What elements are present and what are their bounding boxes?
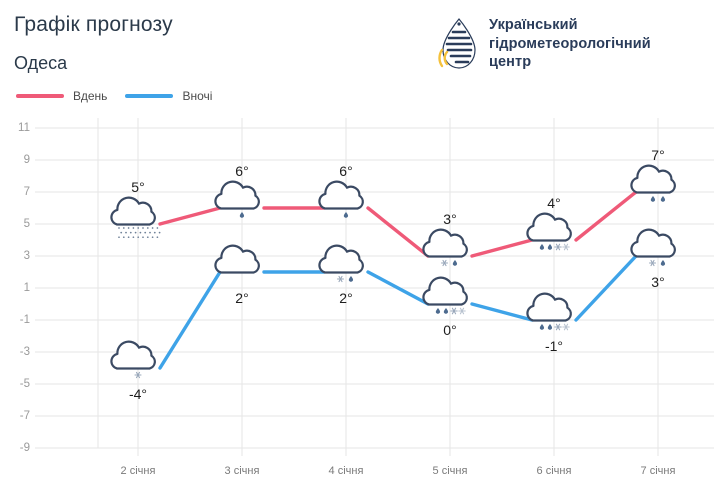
precipitation-icon [240, 212, 244, 218]
x-axis-tick: 4 січня [329, 465, 364, 477]
temperature-label: -4° [129, 386, 147, 402]
snowflake-icon [563, 244, 569, 250]
raindrop-icon [661, 196, 665, 202]
cloud-icon [527, 214, 570, 241]
raindrop-icon [436, 308, 440, 314]
series-segment [160, 208, 220, 224]
weather-point [111, 342, 154, 378]
series-segment [472, 304, 532, 320]
y-axis-tick: 11 [4, 122, 30, 134]
temperature-label: 6° [235, 163, 248, 179]
y-axis-tick: 5 [4, 218, 30, 230]
precipitation-icon [650, 260, 666, 266]
precipitation-icon [442, 260, 458, 266]
weather-point [215, 182, 258, 218]
series-segment [472, 240, 532, 256]
cloud-icon [527, 294, 570, 321]
weather-point [527, 214, 570, 250]
weather-point [111, 198, 160, 238]
snowflake-icon [563, 324, 569, 330]
y-axis-tick: -9 [4, 442, 30, 454]
snowflake-icon [650, 260, 656, 265]
precipitation-icon [540, 244, 569, 250]
cloud-icon [423, 278, 466, 305]
y-axis-tick: 9 [4, 154, 30, 166]
temperature-label: 3° [443, 211, 456, 227]
raindrop-icon [548, 324, 552, 330]
weather-point [319, 182, 362, 218]
weather-point [631, 166, 674, 202]
cloud-icon [631, 166, 674, 193]
y-axis-tick: 1 [4, 282, 30, 294]
x-axis-tick: 3 січня [225, 465, 260, 477]
raindrop-icon [548, 244, 552, 250]
y-axis-tick: 7 [4, 186, 30, 198]
y-axis-tick: -5 [4, 378, 30, 390]
temperature-label: 6° [339, 163, 352, 179]
weather-point [319, 246, 362, 282]
cloud-icon [319, 182, 362, 209]
snowflake-icon [555, 324, 561, 330]
cloud-icon [215, 182, 258, 209]
cloud-icon [423, 230, 466, 257]
precipitation-icon [540, 324, 569, 330]
raindrop-icon [453, 260, 457, 266]
cloud-icon [111, 198, 154, 225]
y-axis-tick: -7 [4, 410, 30, 422]
snowflake-icon [555, 244, 561, 250]
cloud-icon [319, 246, 362, 273]
temperature-label: 2° [235, 290, 248, 306]
chart-plot-area: 1197531-1-3-5-7-92 січня3 січня4 січня5 … [0, 0, 714, 493]
precipitation-icon [436, 308, 465, 314]
temperature-label: -1° [545, 338, 563, 354]
temperature-label: 3° [651, 274, 664, 290]
raindrop-icon [444, 308, 448, 314]
cloud-icon [215, 246, 258, 273]
raindrop-icon [349, 276, 353, 282]
weather-point [527, 294, 570, 330]
x-axis-tick: 6 січня [537, 465, 572, 477]
temperature-label: 4° [547, 195, 560, 211]
y-axis-tick: 3 [4, 250, 30, 262]
series-segment [368, 208, 428, 256]
raindrop-icon [661, 260, 665, 266]
weather-point [423, 278, 466, 314]
raindrop-icon [240, 212, 244, 218]
x-axis-tick: 5 січня [433, 465, 468, 477]
snowflake-icon [338, 276, 344, 281]
precipitation-icon [344, 212, 348, 218]
weather-point [423, 230, 466, 266]
forecast-chart-page: Графік прогнозу Одеса Український гідром… [0, 0, 714, 493]
raindrop-icon [540, 244, 544, 250]
drizzle-icon [118, 227, 160, 238]
temperature-label: 5° [131, 179, 144, 195]
cloud-icon [111, 342, 154, 369]
temperature-label: 0° [443, 322, 456, 338]
weather-point [631, 230, 674, 266]
snowflake-icon [451, 308, 457, 314]
weather-point [215, 246, 258, 273]
x-axis-tick: 2 січня [121, 465, 156, 477]
snowflake-icon [459, 308, 465, 314]
series-segment [576, 192, 636, 240]
chart-svg [0, 0, 714, 493]
snowflake-icon [442, 260, 448, 265]
raindrop-icon [540, 324, 544, 330]
x-axis-tick: 7 січня [641, 465, 676, 477]
y-axis-tick: -3 [4, 346, 30, 358]
cloud-icon [631, 230, 674, 257]
raindrop-icon [651, 196, 655, 202]
precipitation-icon [338, 276, 354, 282]
temperature-label: 7° [651, 147, 664, 163]
temperature-label: 2° [339, 290, 352, 306]
raindrop-icon [344, 212, 348, 218]
y-axis-tick: -1 [4, 314, 30, 326]
